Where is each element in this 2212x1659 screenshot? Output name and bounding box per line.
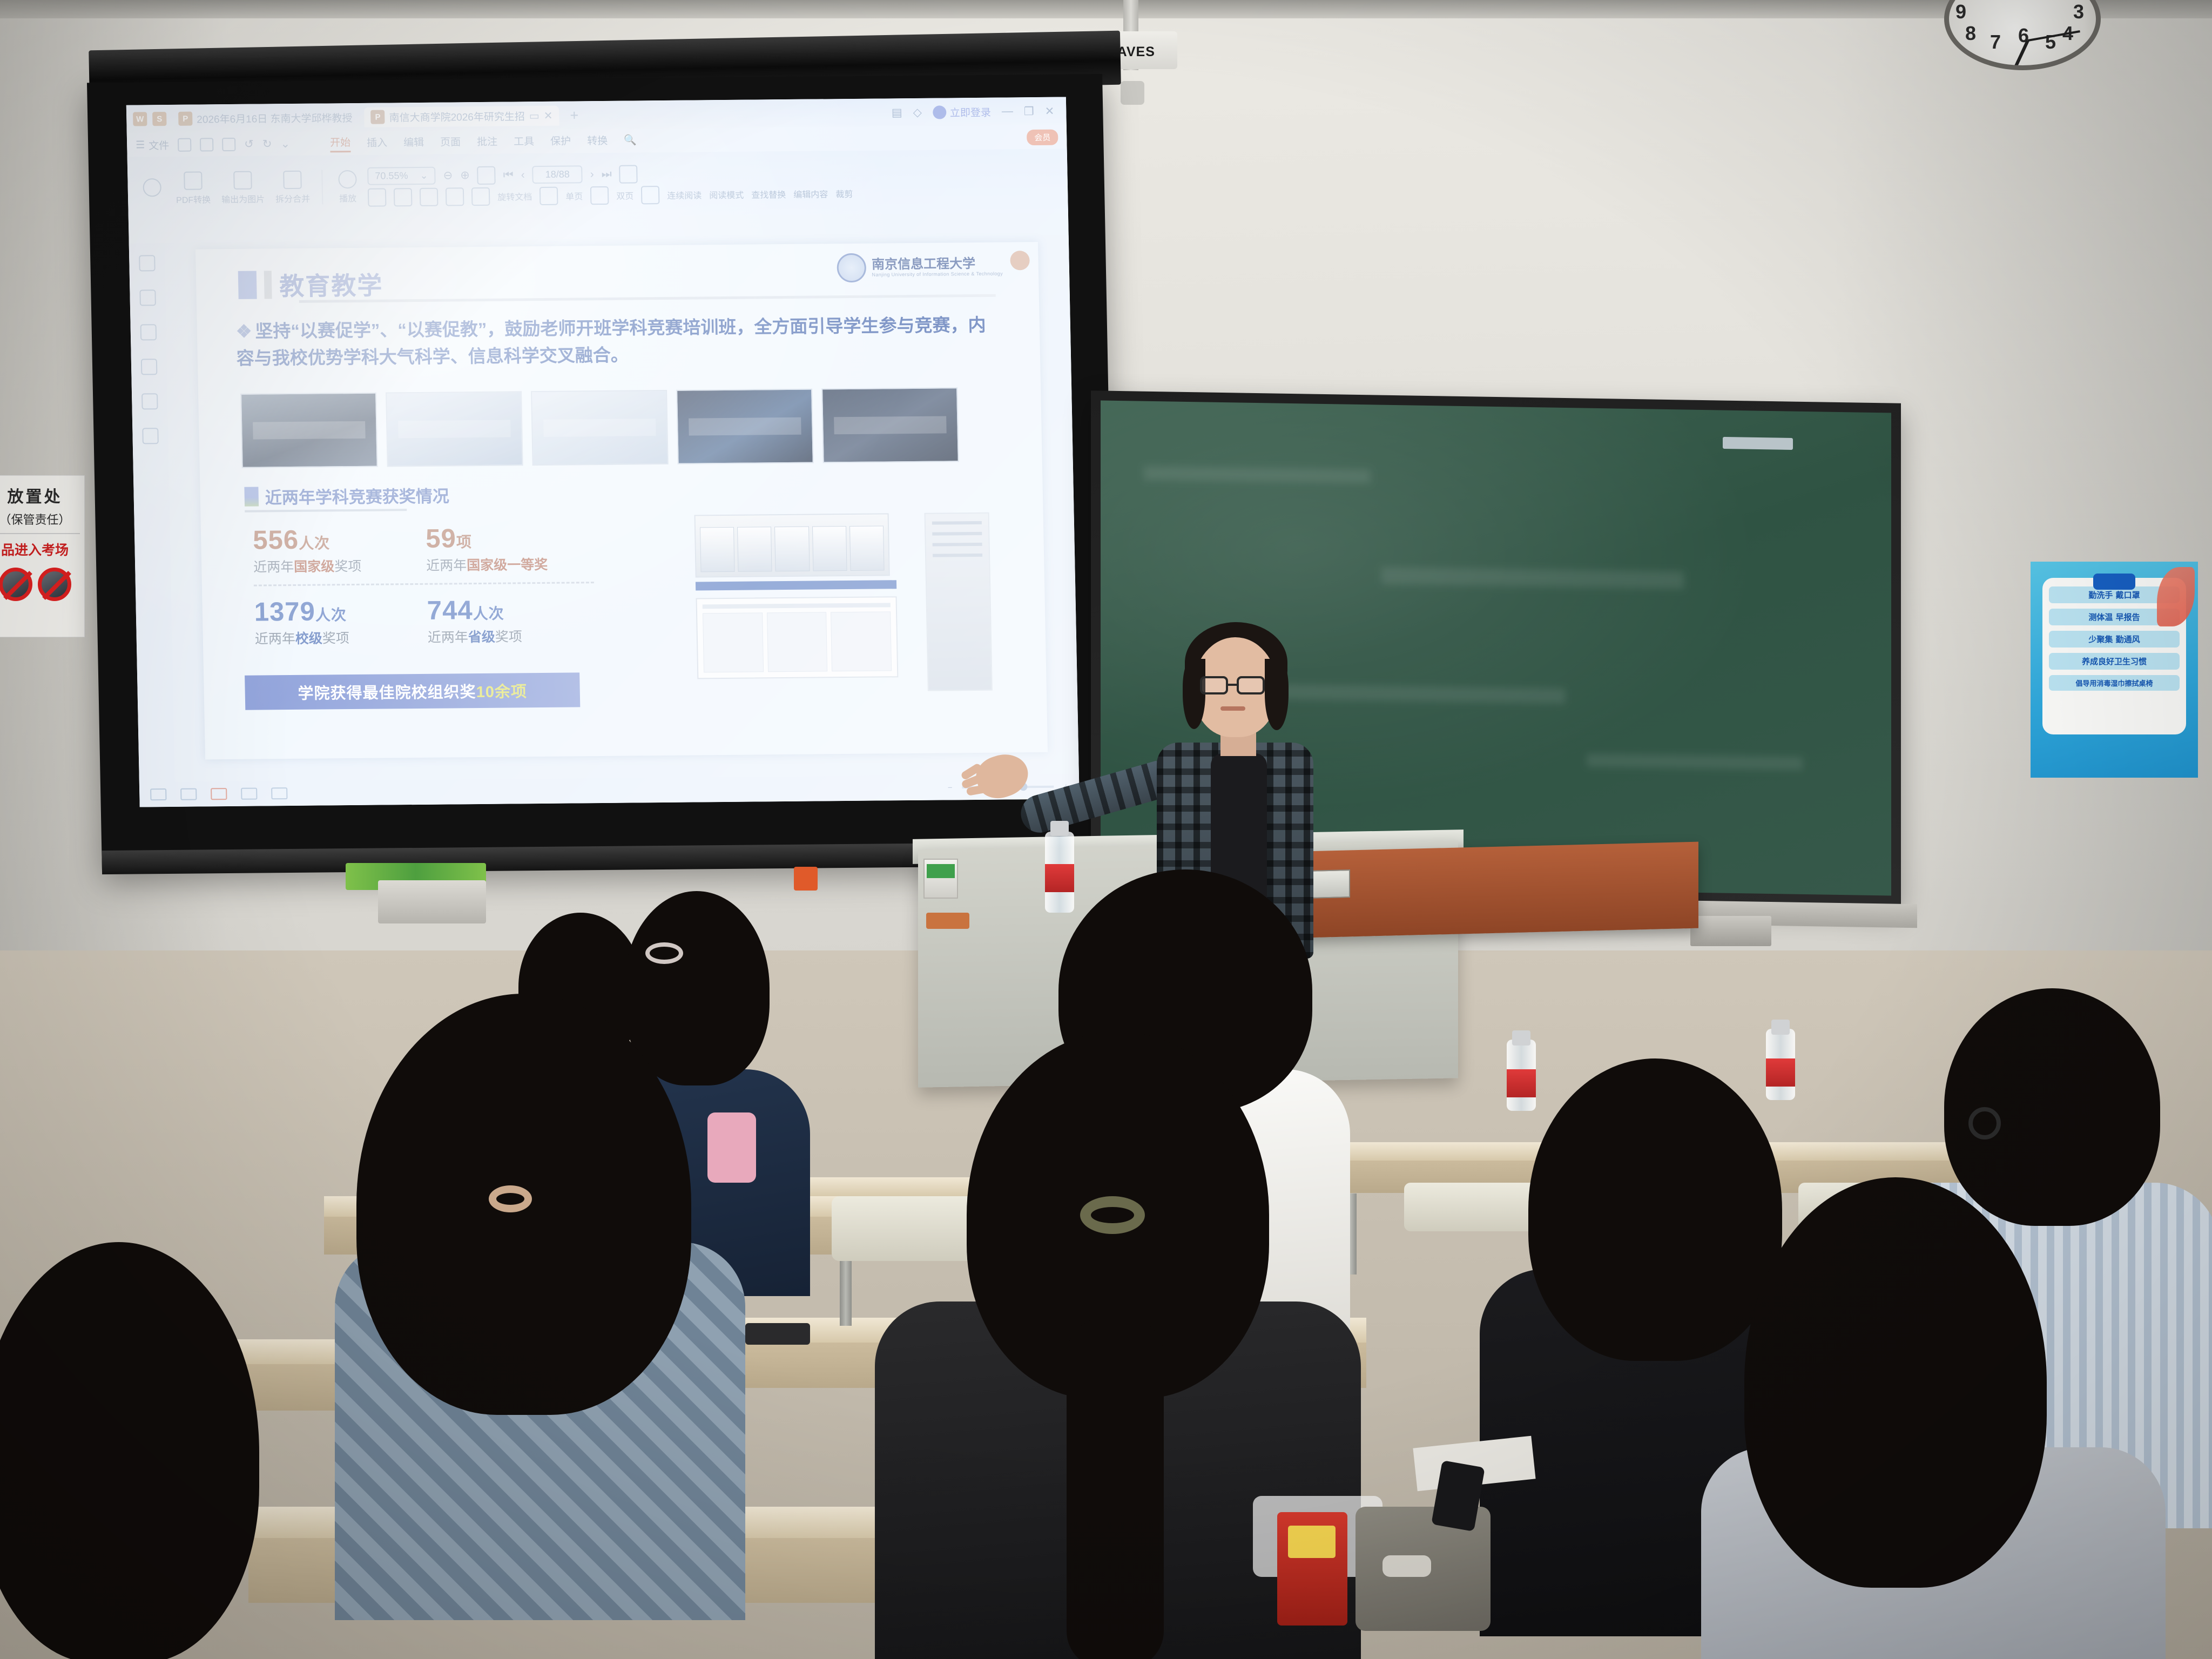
section-underline [245, 509, 407, 512]
status-note-icon[interactable] [271, 787, 287, 799]
certificate-1 [700, 527, 735, 572]
rotate-doc-label[interactable]: 旋转文档 [497, 190, 532, 203]
pdf-page: 教育教学 南京信息工程大学 Nanjing University of Info… [195, 242, 1048, 759]
menu-tab-insert[interactable]: 插入 [367, 134, 388, 151]
ponytail-scrunchie [1080, 1196, 1145, 1234]
ribbon-divider-1 [321, 170, 323, 205]
menu-tab-protect[interactable]: 保护 [550, 133, 571, 150]
cert-line [932, 532, 982, 536]
banner-highlight: 10余项 [476, 679, 527, 702]
wps-presentation-icon: P [178, 112, 192, 126]
new-tab-button[interactable]: + [564, 107, 584, 124]
photo-band [689, 417, 801, 436]
cert-line [932, 521, 982, 525]
projector-sensor [1121, 81, 1144, 105]
single-page-icon[interactable] [539, 186, 558, 205]
ribbon-play[interactable]: 播放 [331, 167, 365, 206]
menu-tab-start[interactable]: 开始 [330, 134, 351, 152]
stat-3-value: 1379人次 [254, 596, 427, 628]
hand-tool-icon [143, 178, 161, 197]
tab-present-icon[interactable]: ▭ [529, 109, 539, 123]
book-view-icon[interactable] [619, 165, 638, 183]
layers-icon[interactable] [142, 428, 159, 444]
stat-2-value: 59项 [426, 522, 599, 554]
teacher-hair-right [1265, 659, 1289, 730]
play-icon [338, 170, 357, 188]
clock-number-9: 9 [1955, 1, 1966, 23]
achievement-banner: 学院获得最佳院校组织奖10余项 [245, 672, 580, 710]
hamburger-icon: ☰ [136, 139, 145, 151]
doc-cell [703, 612, 764, 672]
zoom-level-select[interactable]: 70.55% ⌄ [367, 167, 436, 185]
stat-1-caption: 近两年国家级奖项 [253, 555, 427, 576]
next-page-icon[interactable]: › [590, 168, 594, 181]
split-merge-label: 拆分合并 [275, 191, 310, 205]
wristband [1382, 1555, 1431, 1577]
doc-cell [831, 611, 892, 671]
actual-size-icon[interactable] [420, 187, 439, 206]
pdf-convert-icon [184, 171, 203, 190]
print-icon[interactable] [222, 137, 235, 151]
student-hair [1944, 988, 2160, 1226]
comments-icon[interactable] [140, 324, 157, 340]
chalk-smudge [1144, 466, 1371, 484]
university-seal-icon [837, 253, 867, 282]
window-minimize-button[interactable]: — [1002, 105, 1013, 118]
zoom-in-icon[interactable]: ⊕ [460, 168, 470, 182]
menu-tab-page[interactable]: 页面 [440, 134, 461, 150]
title-bar-accent [264, 271, 272, 299]
slide-body-text: ❖坚持“以赛促学”、“以赛促教”，鼓励老师开班学科竞赛培训班，全方面引导学生参与… [235, 312, 1001, 372]
section-square-accent [244, 487, 259, 506]
stat-cell-3: 1379人次 近两年校级奖项 [254, 596, 428, 648]
menu-right-group: 会员 [1027, 129, 1058, 145]
fit-width-icon[interactable] [368, 188, 387, 206]
student-hair-tie [489, 1185, 532, 1212]
student-bag-strap [707, 1112, 756, 1183]
student-ponytail [1067, 1318, 1164, 1659]
wps-ribbon: PDF转换 输出为图片 拆分合并 播放 [127, 149, 1068, 220]
snack-label [1288, 1526, 1336, 1558]
clock-number-3: 3 [2073, 1, 2084, 23]
stats-divider [254, 582, 594, 586]
first-page-icon[interactable]: ⏮ [503, 168, 514, 181]
stat-3-caption: 近两年校级奖项 [254, 627, 428, 648]
leaf-decoration-icon [2157, 567, 2195, 626]
tab-close-icon[interactable]: ✕ [543, 109, 552, 122]
continuous-read-icon[interactable] [641, 186, 660, 204]
continuous-read-label[interactable]: 连续阅读 [667, 188, 702, 201]
exam-notice-sign: 放置处 （保管责任） 品进入考场 [0, 475, 85, 637]
poster-line-3: 少聚集 勤通风 [2049, 631, 2180, 648]
stat-2-caption: 近两年国家级一等奖 [426, 554, 599, 575]
file-menu-button[interactable]: ☰ 文件 [136, 138, 170, 153]
screen-frame: W S P 2026年6月16日 东南大学邱桦教授 P 南信大商学院2026年研… [87, 74, 1117, 871]
save-icon[interactable] [200, 138, 213, 151]
bookmark-icon[interactable] [139, 255, 156, 271]
title-square-accent [238, 271, 257, 299]
certificate-4 [812, 527, 847, 571]
find-replace-label[interactable]: 查找替换 [751, 187, 786, 201]
status-record-icon[interactable] [211, 788, 227, 800]
statistics-grid: 556人次 近两年国家级奖项 59项 近两年国家级一等奖 [253, 522, 611, 648]
clipboard-clip-icon [2093, 574, 2135, 590]
tray-under-screen [378, 880, 486, 923]
tab-bar-right-group: ▤ ◇ 立即登录 — ❐ ✕ [892, 104, 1060, 120]
slide-title: 教育教学 [279, 266, 383, 303]
teacher-hand [971, 748, 1033, 804]
statistics-row-1: 556人次 近两年国家级奖项 59项 近两年国家级一等奖 [253, 522, 610, 576]
file-menu-label: 文件 [149, 138, 170, 152]
clock-number-10: 10 [1965, 0, 1987, 4]
wps-pdf-icon: P [370, 110, 385, 124]
edit-content-label[interactable]: 编辑内容 [793, 187, 828, 200]
classroom-scene: 4 3 2 1 8 9 10 11 6 5 7 放置处 （保管责任） 品进入考场… [0, 0, 2212, 1659]
certificate-2 [737, 527, 772, 572]
chalk-smudge [1587, 754, 1803, 770]
sidebar-toggle-icon[interactable]: ▤ [892, 106, 902, 119]
doc-grid [703, 611, 892, 672]
tab-pdf-active[interactable]: P 南信大商学院2026年研究生招 ▭ ✕ [364, 105, 559, 127]
student-hair [624, 891, 770, 1085]
stat-4-value: 744人次 [427, 594, 600, 626]
cert-line [933, 543, 982, 547]
university-name: 南京信息工程大学 [872, 257, 1003, 272]
stat-cell-2: 59项 近两年国家级一等奖 [426, 522, 599, 575]
no-food-icon [0, 568, 32, 601]
certificate-5 [849, 526, 885, 571]
single-page-label[interactable]: 单页 [565, 189, 583, 202]
status-grid-icon[interactable] [180, 788, 197, 800]
award-document-sheet [696, 596, 898, 679]
ribbon-zoom-line: 70.55% ⌄ ⊖ ⊕ ⏮ ‹ 18/88 › ⏭ [367, 163, 853, 185]
student-glasses-lens [1968, 1107, 2001, 1139]
hygiene-poster: 勤洗手 戴口罩 测体温 早报告 少聚集 勤通风 养成良好卫生习惯 倡导用消毒湿巾… [2031, 562, 2198, 778]
redo-icon[interactable]: ↻ [262, 137, 272, 151]
rotate-left-icon[interactable] [446, 187, 464, 206]
poster-line-5: 倡导用消毒湿巾擦拭桌椅 [2049, 675, 2180, 691]
ribbon-select-tool[interactable] [135, 176, 169, 202]
stat-1-value: 556人次 [253, 524, 426, 556]
app-cube-icon[interactable]: ◇ [913, 105, 922, 119]
bottle-label [1045, 864, 1074, 892]
tissue-box-label [927, 864, 955, 878]
teacher-mouth [1220, 706, 1245, 711]
slide-corner-badge [1010, 251, 1030, 270]
bullet-icon: ❖ [235, 321, 252, 341]
tray-box-right [1690, 916, 1771, 946]
thumbnails-icon[interactable] [139, 289, 156, 306]
slide-title-block: 教育教学 [238, 266, 383, 303]
quick-access-chevron-down-icon[interactable]: ⌄ [280, 137, 290, 151]
pdf-convert-label: PDF转换 [176, 192, 211, 206]
desk-object-book [926, 913, 969, 929]
projection-screen: W S P 2026年6月16日 东南大学邱桦教授 P 南信大商学院2026年研… [95, 41, 1110, 851]
attachments-icon[interactable] [141, 359, 158, 375]
doc-cell [767, 612, 828, 672]
teacher-glasses-left-lens [1200, 676, 1228, 694]
stat-cell-4: 744人次 近两年省级奖项 [427, 594, 601, 646]
bottle-cap [1512, 1030, 1530, 1046]
university-name-block: 南京信息工程大学 Nanjing University of Informati… [872, 257, 1003, 278]
page-number-input[interactable]: 18/88 [532, 165, 583, 184]
export-image-icon [233, 171, 252, 189]
status-page-icon[interactable] [150, 788, 166, 800]
window-maximize-button[interactable]: ❐ [1024, 105, 1034, 118]
photo-band [398, 420, 511, 438]
certificate-3 [774, 527, 810, 571]
bottle-label [1507, 1069, 1536, 1097]
status-zoom-out-icon[interactable]: − [948, 783, 953, 792]
sign-line-3: 品进入考场 [0, 539, 80, 559]
clock-number-2: 2 [2061, 0, 2072, 4]
blackboard-eraser[interactable] [1723, 437, 1793, 450]
slide-right-images [694, 512, 1000, 679]
teacher-hair-left [1183, 659, 1205, 729]
status-screen-icon[interactable] [241, 788, 257, 800]
user-avatar-icon [933, 105, 946, 119]
sign-divider [0, 533, 80, 534]
double-page-label[interactable]: 双页 [616, 188, 633, 201]
login-label: 立即登录 [950, 104, 992, 119]
university-logo-block: 南京信息工程大学 Nanjing University of Informati… [837, 252, 1003, 283]
ribbon-split-merge[interactable]: 拆分合并 [271, 168, 314, 207]
open-folder-icon[interactable] [178, 138, 191, 151]
tab-presentation[interactable]: P 2026年6月16日 东南大学邱桦教授 [172, 107, 359, 129]
crop-label[interactable]: 裁剪 [835, 186, 853, 199]
ribbon-view-column: 70.55% ⌄ ⊖ ⊕ ⏮ ‹ 18/88 › ⏭ [367, 163, 853, 206]
chair-back [1404, 1183, 1539, 1231]
menu-tab-convert[interactable]: 转换 [587, 133, 608, 149]
photo-thumbnail-1 [240, 393, 378, 468]
double-page-icon[interactable] [590, 186, 609, 204]
photo-thumbnail-5 [821, 387, 959, 463]
section-heading: 近两年学科竞赛获奖情况 [265, 482, 449, 508]
bottle-label [1766, 1058, 1795, 1087]
photo-thumbnail-3 [531, 390, 669, 466]
play-label: 播放 [339, 191, 356, 204]
wps-spreadsheet-icon[interactable]: S [152, 112, 166, 126]
clock-number-7: 7 [1990, 31, 2001, 53]
window-close-button[interactable]: ✕ [1044, 104, 1054, 118]
photo-thumbnail-2 [386, 391, 523, 467]
doc-line [703, 603, 891, 609]
certificates-row [694, 513, 890, 577]
membership-badge[interactable]: 会员 [1027, 129, 1058, 145]
undo-icon[interactable]: ↺ [244, 137, 254, 151]
photo-band [253, 421, 366, 440]
section-heading-block: 近两年学科竞赛获奖情况 [244, 482, 449, 508]
fit-page-icon[interactable] [394, 188, 413, 206]
chevron-down-icon: ⌄ [420, 170, 428, 181]
zoom-out-icon[interactable]: ⊖ [443, 168, 453, 182]
screen-surface: W S P 2026年6月16日 东南大学邱桦教授 P 南信大商学院2026年研… [126, 97, 1080, 807]
images-accent-bar [696, 580, 896, 590]
login-button[interactable]: 立即登录 [933, 104, 992, 119]
stat-cell-1: 556人次 近两年国家级奖项 [253, 524, 427, 576]
signature-icon[interactable] [141, 393, 158, 409]
tab-presentation-label: 2026年6月16日 东南大学邱桦教授 [197, 110, 353, 126]
slide-body-paragraph: 坚持“以赛促学”、“以赛促教”，鼓励老师开班学科竞赛培训班，全方面引导学生参与竞… [236, 315, 986, 368]
chalk-smudge [1381, 567, 1684, 589]
rotate-right-icon[interactable] [471, 187, 490, 205]
ribbon-pdf-convert[interactable]: PDF转换 [172, 169, 214, 208]
slide-photo-strip [240, 387, 959, 468]
wps-document-area[interactable]: 教育教学 南京信息工程大学 Nanjing University of Info… [165, 235, 1079, 781]
menu-tab-edit[interactable]: 编辑 [403, 134, 424, 151]
photo-band [543, 419, 656, 437]
menu-tab-tools[interactable]: 工具 [514, 133, 535, 150]
wps-writer-icon[interactable]: W [133, 112, 147, 126]
student-hair [1528, 1058, 1782, 1361]
ribbon-menu-tabs: 开始 插入 编辑 页面 批注 工具 保护 转换 🔍 [330, 132, 637, 152]
sign-line-2: （保管责任） [0, 510, 80, 528]
reading-mode-label[interactable]: 阅读模式 [709, 187, 744, 201]
photo-band [834, 416, 947, 434]
small-orange-box [794, 867, 818, 891]
poster-line-4: 养成良好卫生习惯 [2049, 653, 2180, 670]
zoom-level-value: 70.55% [375, 170, 408, 182]
phone-on-desk [745, 1323, 810, 1345]
menu-tab-annotate[interactable]: 批注 [477, 134, 498, 150]
wps-office-window: W S P 2026年6月16日 东南大学邱桦教授 P 南信大商学院2026年研… [126, 97, 1080, 807]
prev-page-icon[interactable]: ‹ [521, 168, 524, 181]
split-merge-icon [283, 170, 302, 188]
bottle-cap [1050, 821, 1069, 836]
title-underline [299, 294, 996, 303]
no-bag-icon [38, 568, 71, 601]
bottle-cap [1771, 1020, 1790, 1035]
stat-4-caption: 近两年省级奖项 [427, 625, 601, 646]
page-swap-icon[interactable] [477, 166, 496, 184]
teacher-glasses-bridge [1228, 684, 1237, 686]
photo-thumbnail-4 [676, 389, 814, 464]
banner-text: 学院获得最佳院校组织奖 [298, 679, 476, 704]
university-name-en: Nanjing University of Information Scienc… [872, 271, 1003, 278]
clock-number-8: 8 [1965, 22, 1976, 45]
last-page-icon[interactable]: ⏭ [602, 167, 612, 180]
teacher-glasses-right-lens [1237, 676, 1265, 694]
sign-icon-group [0, 568, 80, 601]
statistics-row-2: 1379人次 近两年校级奖项 744人次 近两年省级奖项 [254, 594, 611, 648]
ribbon-export-image[interactable]: 输出为图片 [217, 168, 268, 207]
export-image-label: 输出为图片 [221, 192, 265, 205]
sign-line-1: 放置处 [0, 483, 80, 507]
menu-search-icon[interactable]: 🔍 [624, 133, 637, 148]
cert-line [933, 554, 982, 557]
ribbon-view-buttons-line: 旋转文档 单页 双页 连续阅读 阅读模式 查找替换 编辑内容 裁剪 [368, 184, 853, 206]
tab-pdf-label: 南信大商学院2026年研究生招 [389, 109, 525, 124]
student-hair [1744, 1177, 2047, 1588]
student-hair-accessory [645, 942, 683, 964]
